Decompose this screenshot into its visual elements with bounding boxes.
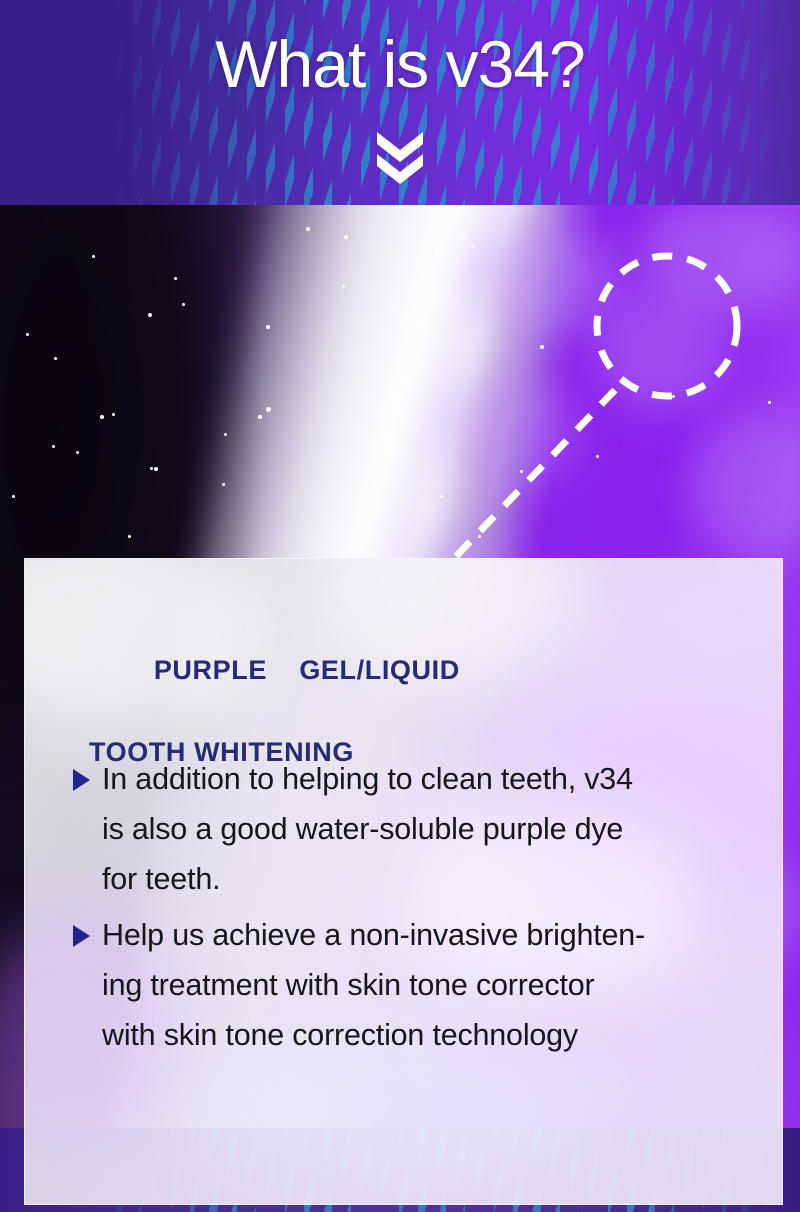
bubble-speck (12, 495, 15, 498)
bubble-speck (768, 401, 771, 404)
bubble-speck (266, 325, 270, 329)
bubble-speck (150, 467, 153, 470)
list-item-text: Help us achieve a non-invasive brighten-… (102, 910, 645, 1060)
bubble-speck (342, 285, 345, 288)
bubble-speck (100, 415, 104, 419)
benefit-list: In addition to helping to clean teeth, v… (73, 754, 773, 1066)
info-card: PURPLE GEL/LIQUID TOOTH WHITENING In add… (24, 558, 783, 1205)
page-title: What is v34? (0, 22, 800, 106)
list-item-line: ing treatment with skin tone corrector (102, 960, 645, 1010)
bubble-speck (472, 245, 475, 248)
product-infographic-page: What is v34? (0, 0, 800, 1212)
bubble-speck (266, 407, 271, 412)
list-item-line: Help us achieve a non-invasive brighten- (102, 910, 645, 960)
list-item-text: In addition to helping to clean teeth, v… (102, 754, 633, 904)
list-item: Help us achieve a non-invasive brighten-… (73, 910, 773, 1060)
list-item-line: with skin tone correction technology (102, 1010, 645, 1060)
list-item: In addition to helping to clean teeth, v… (73, 754, 773, 904)
triangle-right-bullet-icon (73, 769, 90, 791)
bubble-speck (520, 470, 523, 473)
bubble-speck (306, 227, 310, 231)
purple-highlight-blob (470, 225, 620, 335)
bubble-speck (148, 313, 152, 317)
bubble-speck (26, 333, 29, 336)
bubble-speck (154, 467, 158, 471)
bubble-speck (112, 413, 115, 416)
bubble-speck (540, 345, 544, 349)
bubble-speck (596, 455, 599, 458)
bubble-speck (174, 277, 177, 280)
bubble-speck (258, 415, 262, 419)
bubble-speck (224, 433, 227, 436)
list-item-line: is also a good water-soluble purple dye (102, 804, 633, 854)
bubble-speck (128, 535, 131, 538)
bubble-speck (222, 483, 225, 486)
bubble-speck (344, 235, 348, 239)
list-item-line: In addition to helping to clean teeth, v… (102, 754, 633, 804)
bubble-speck (92, 255, 95, 258)
card-kicker-line-1: PURPLE GEL/LIQUID (154, 655, 460, 685)
double-chevron-down-icon (0, 128, 800, 184)
purple-highlight-blob (596, 291, 726, 411)
header-banner: What is v34? (0, 0, 800, 205)
bubble-speck (76, 451, 79, 454)
bubble-speck (52, 445, 55, 448)
bubble-speck (182, 303, 185, 306)
purple-highlight-blob (440, 375, 580, 485)
bubble-speck (54, 357, 57, 360)
bubble-speck (440, 495, 443, 498)
bubble-speck (672, 395, 675, 398)
triangle-right-bullet-icon (73, 925, 90, 947)
list-item-line: for teeth. (102, 854, 633, 904)
bubble-speck (478, 535, 481, 538)
